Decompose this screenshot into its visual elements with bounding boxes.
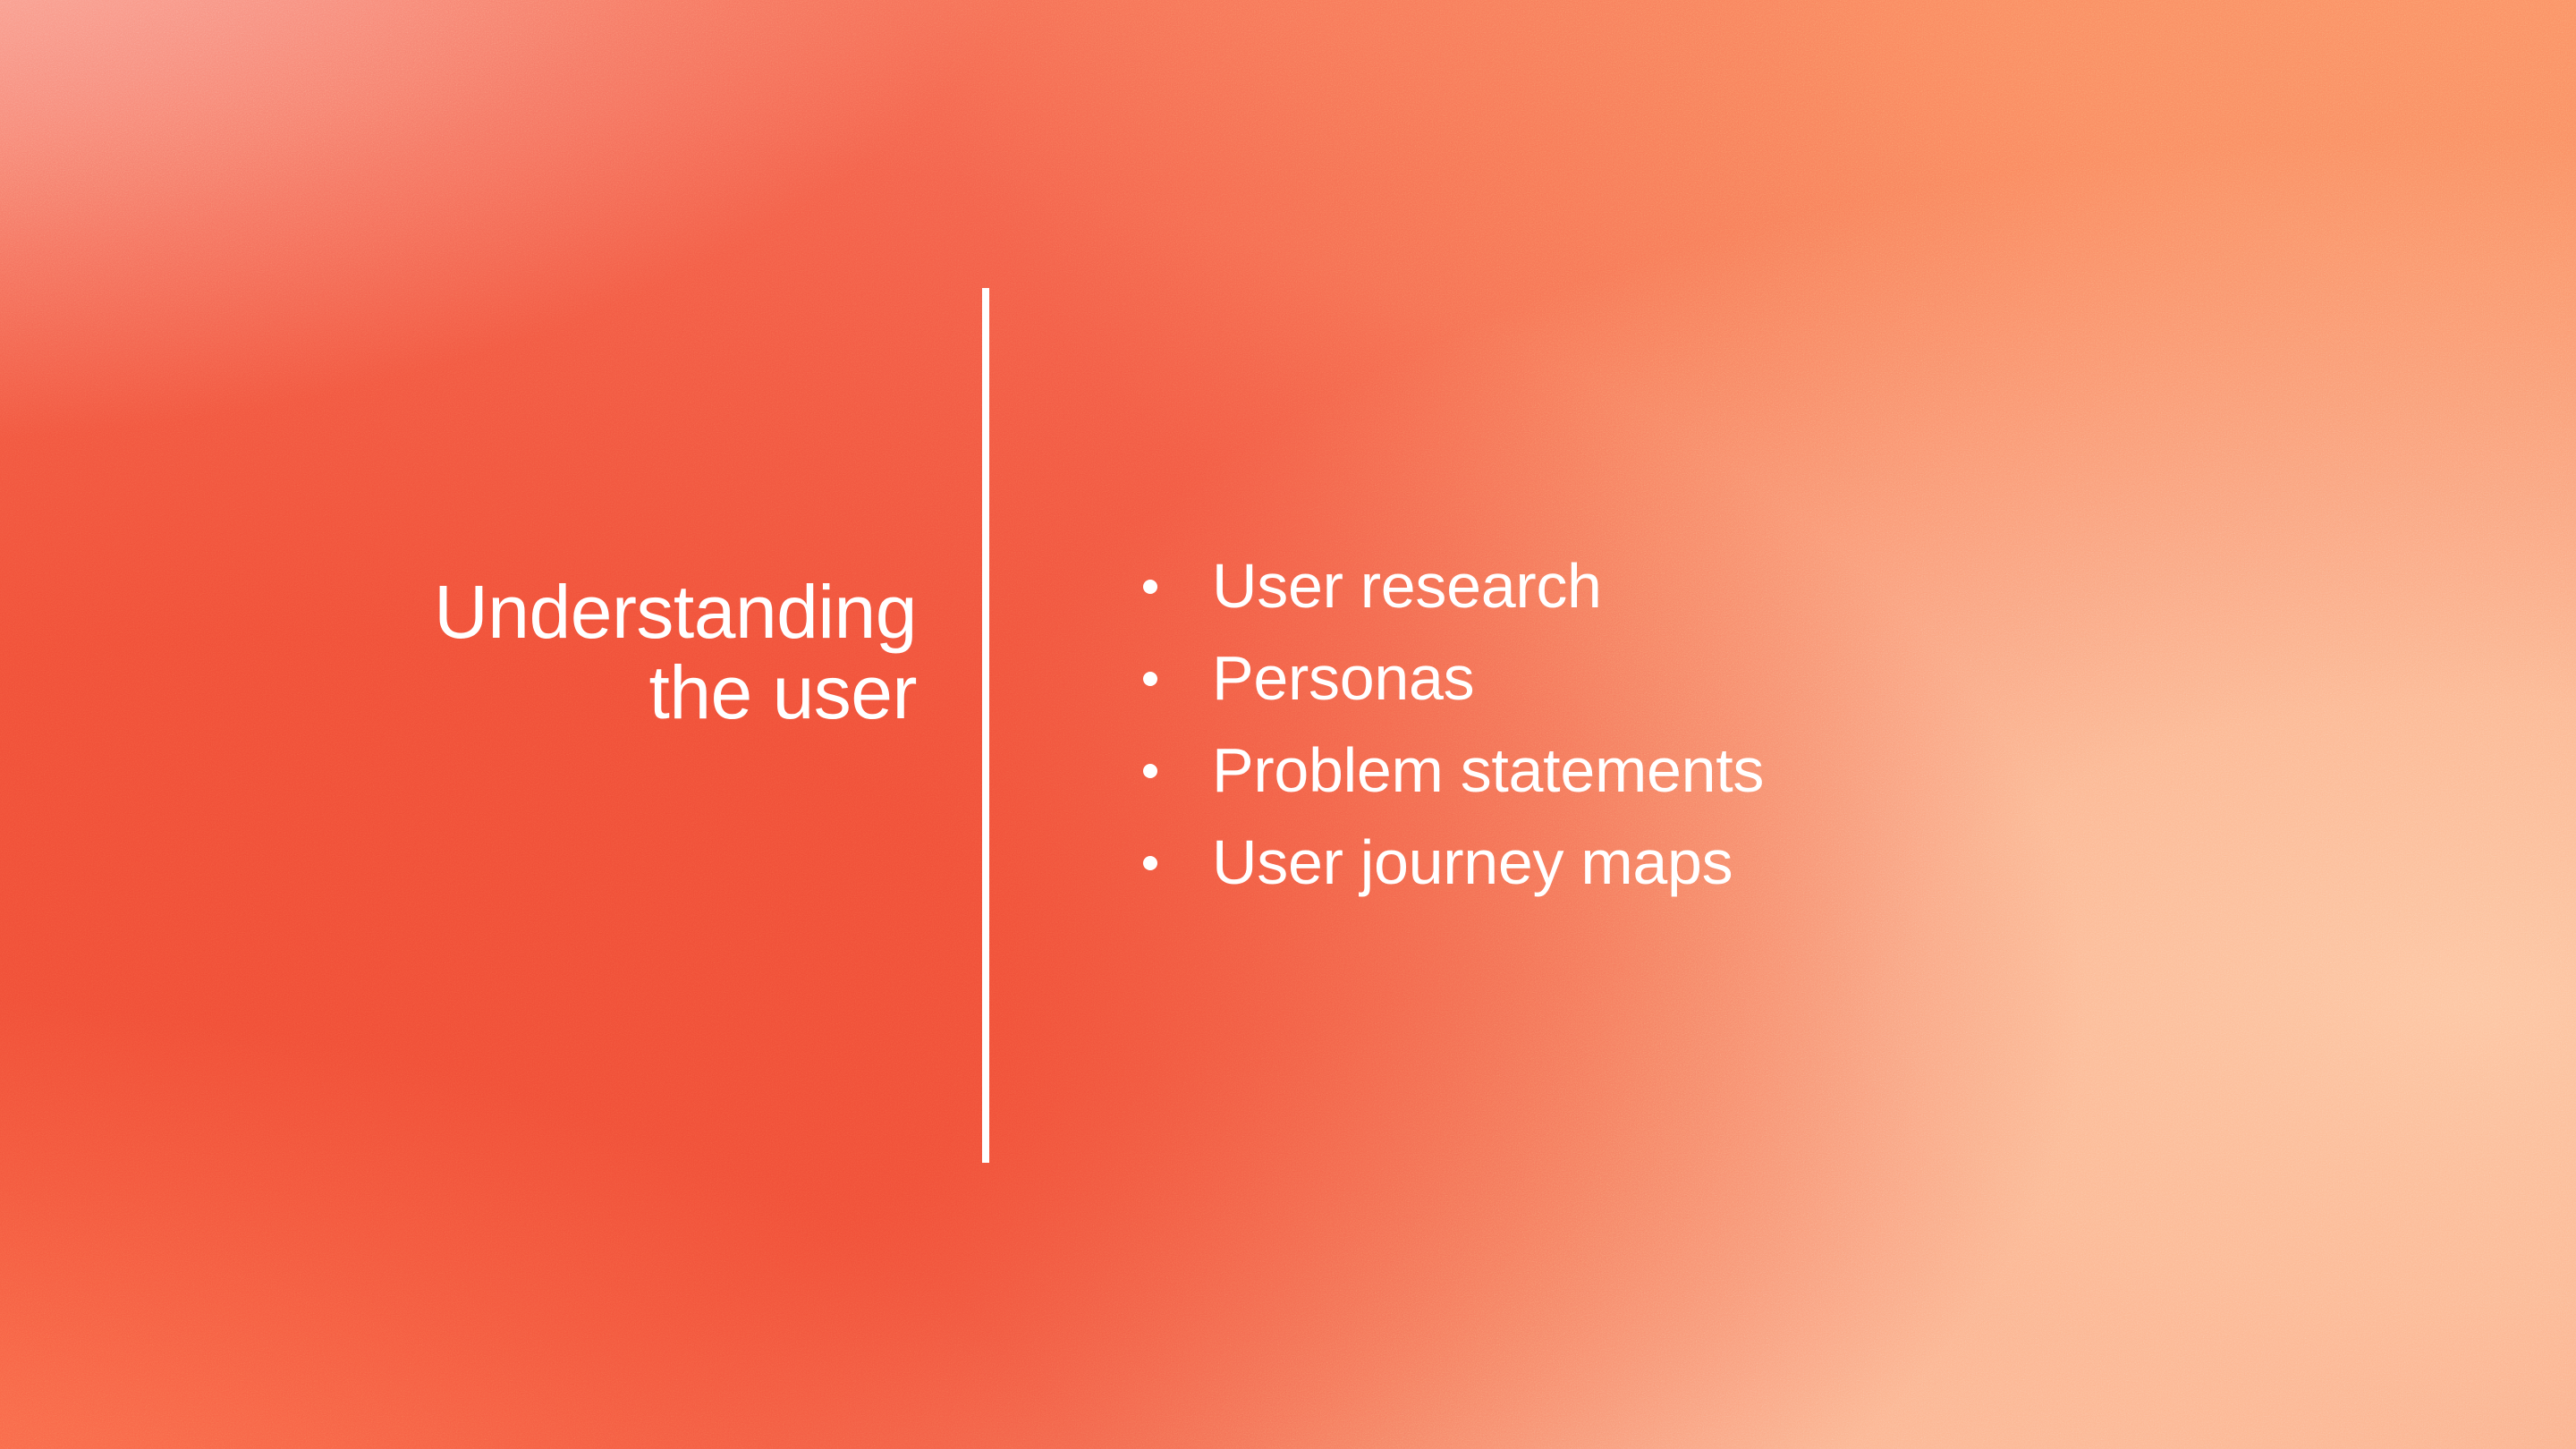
list-item: Personas xyxy=(1143,632,2216,724)
list-item-label: User research xyxy=(1212,540,1602,632)
list-item-label: User journey maps xyxy=(1212,817,1733,909)
list-item-label: Personas xyxy=(1212,632,1474,724)
bullet-dot-icon xyxy=(1143,764,1157,778)
list-item: User research xyxy=(1143,540,2216,632)
vertical-divider xyxy=(982,288,989,1163)
list-item: Problem statements xyxy=(1143,724,2216,817)
list-item-label: Problem statements xyxy=(1212,724,1764,817)
slide-canvas: Understanding the user User research Per… xyxy=(0,0,2576,1449)
slide-content: Understanding the user User research Per… xyxy=(0,0,2576,1449)
page-title: Understanding the user xyxy=(161,572,917,733)
bullet-dot-icon xyxy=(1143,856,1157,870)
bullet-dot-icon xyxy=(1143,672,1157,686)
bullet-dot-icon xyxy=(1143,580,1157,594)
list-item: User journey maps xyxy=(1143,817,2216,909)
bullet-list: User research Personas Problem statement… xyxy=(1143,540,2216,909)
